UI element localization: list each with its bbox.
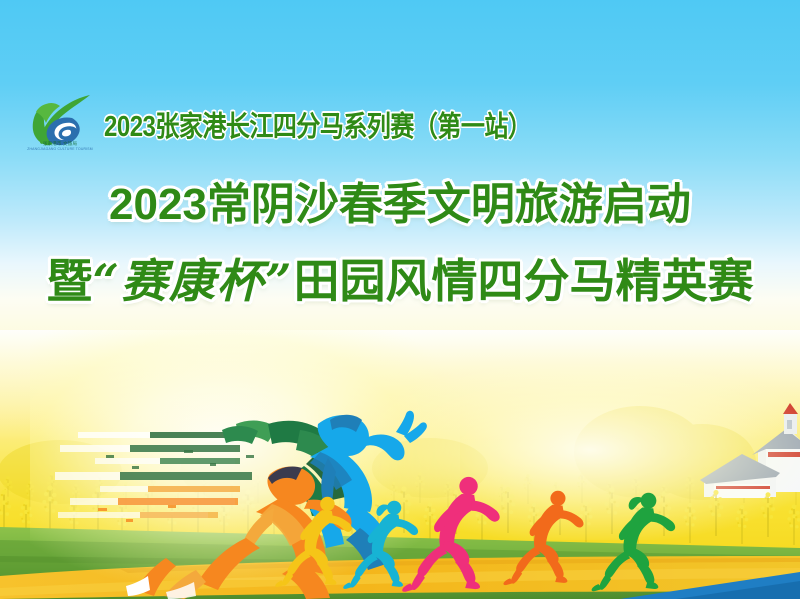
- main-title-sponsor: 赛康杯: [121, 254, 265, 308]
- logo-subtitle-en: ZHANGJIAGANG CULTURE TOURISM: [26, 147, 94, 153]
- organizer-logo: 张家港市 文旅局 ZHANGJIAGANG CULTURE TOURISM: [24, 92, 96, 154]
- main-title-quote-close: ”: [265, 254, 293, 308]
- poster-header: 张家港市 文旅局 ZHANGJIAGANG CULTURE TOURISM 20…: [0, 92, 800, 154]
- main-title-line-2-prefix: 暨: [47, 255, 93, 307]
- leaf-wave-logo-icon: [24, 92, 96, 148]
- logo-subtitle: 张家港市 文旅局 ZHANGJIAGANG CULTURE TOURISM: [26, 141, 94, 152]
- main-title-line-2: 暨“赛康杯”田园风情四分马精英赛: [0, 252, 800, 310]
- main-title-line-2-suffix: 田园风情四分马精英赛: [293, 255, 753, 307]
- main-title-block: 2023常阴沙春季文明旅游启动 暨“赛康杯”田园风情四分马精英赛: [0, 178, 800, 310]
- main-title-line-1: 2023常阴沙春季文明旅游启动: [0, 178, 800, 232]
- logo-subtitle-cn: 张家港市 文旅局: [43, 141, 77, 146]
- event-poster: 张家港市 文旅局 ZHANGJIAGANG CULTURE TOURISM 20…: [0, 0, 800, 599]
- series-title: 2023张家港长江四分马系列赛（第一站）: [104, 102, 531, 143]
- main-title-quote-open: “: [93, 254, 121, 308]
